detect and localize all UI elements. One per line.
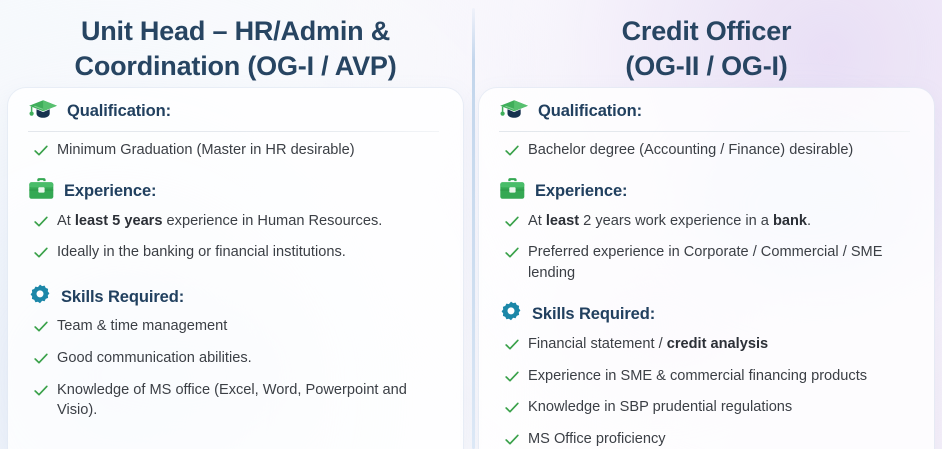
section-qualification: Qualification:Bachelor degree (Accountin… (499, 96, 916, 167)
job-card-2: Qualification:Bachelor degree (Accountin… (479, 88, 934, 449)
section-qualification: Qualification:Minimum Graduation (Master… (28, 96, 445, 167)
check-icon (505, 432, 519, 449)
section-item-list: Team & time managementGood communication… (28, 312, 445, 425)
list-item: At least 2 years work experience in a ba… (499, 207, 916, 239)
gear-icon (499, 300, 523, 329)
list-item: Knowledge of MS office (Excel, Word, Pow… (28, 376, 445, 425)
section-skills: Skills Required:Financial statement / cr… (499, 300, 916, 449)
check-icon (34, 383, 48, 404)
briefcase-icon (499, 177, 526, 207)
check-icon (505, 143, 519, 164)
check-icon (505, 245, 519, 266)
section-item-list: Financial statement / credit analysisExp… (499, 330, 916, 449)
check-icon (505, 337, 519, 358)
list-item-text: Good communication abilities. (57, 348, 445, 369)
section-header-qualification: Qualification: (499, 96, 916, 126)
check-icon (505, 214, 519, 235)
list-item: Bachelor degree (Accounting / Finance) d… (499, 137, 916, 167)
list-item-text: Experience in SME & commercial financing… (528, 366, 916, 387)
section-item-list: Bachelor degree (Accounting / Finance) d… (499, 137, 916, 167)
check-icon (34, 245, 48, 266)
list-item: Financial statement / credit analysis (499, 330, 916, 362)
graduation-cap-icon (499, 96, 529, 127)
list-item-text: Minimum Graduation (Master in HR desirab… (57, 140, 445, 161)
list-item: Preferred experience in Corporate / Comm… (499, 238, 916, 287)
list-item: Team & time management (28, 312, 445, 344)
list-item-text: Financial statement / credit analysis (528, 334, 916, 355)
list-item: Good communication abilities. (28, 344, 445, 376)
section-divider (28, 131, 439, 132)
section-header-qualification: Qualification: (28, 96, 445, 126)
list-item-text: At least 5 years experience in Human Res… (57, 211, 445, 232)
list-item: MS Office proficiency (499, 425, 916, 449)
check-icon (34, 214, 48, 235)
column-divider (472, 8, 475, 449)
briefcase-icon (28, 177, 55, 207)
list-item-text: Ideally in the banking or financial inst… (57, 242, 445, 263)
list-item-text: Knowledge in SBP prudential regulations (528, 397, 916, 418)
section-experience: Experience:At least 5 years experience i… (28, 177, 445, 270)
job-requirements-infographic: Unit Head – HR/Admin &Coordination (OG-I… (0, 0, 942, 449)
check-icon (34, 143, 48, 164)
section-experience: Experience:At least 2 years work experie… (499, 177, 916, 288)
list-item-text: At least 2 years work experience in a ba… (528, 211, 916, 232)
job-columns-container: Unit Head – HR/Admin &Coordination (OG-I… (0, 0, 942, 449)
section-heading-label: Experience: (535, 182, 627, 201)
section-heading-label: Qualification: (67, 102, 171, 121)
section-header-experience: Experience: (499, 177, 916, 207)
section-heading-label: Qualification: (538, 102, 642, 121)
list-item: Experience in SME & commercial financing… (499, 362, 916, 394)
section-skills: Skills Required:Team & time managementGo… (28, 282, 445, 425)
list-item-text: Team & time management (57, 316, 445, 337)
job-title-2: Credit Officer(OG-II / OG-I) (471, 0, 942, 83)
gear-icon (28, 283, 52, 312)
section-header-experience: Experience: (28, 177, 445, 207)
check-icon (505, 369, 519, 390)
job-title-line: Coordination (OG-I / AVP) (0, 49, 471, 84)
section-heading-label: Experience: (64, 182, 156, 201)
check-icon (34, 319, 48, 340)
section-heading-label: Skills Required: (532, 305, 655, 324)
list-item-text: Knowledge of MS office (Excel, Word, Pow… (57, 380, 445, 421)
job-title-line: (OG-II / OG-I) (471, 49, 942, 84)
section-item-list: Minimum Graduation (Master in HR desirab… (28, 137, 445, 167)
section-heading-label: Skills Required: (61, 288, 184, 307)
section-divider (499, 131, 910, 132)
job-title-1: Unit Head – HR/Admin &Coordination (OG-I… (0, 0, 471, 83)
check-icon (34, 351, 48, 372)
list-item-text: MS Office proficiency (528, 429, 916, 449)
job-column-2: Credit Officer(OG-II / OG-I)Qualificatio… (471, 0, 942, 449)
section-header-skills: Skills Required: (28, 282, 445, 312)
job-column-1: Unit Head – HR/Admin &Coordination (OG-I… (0, 0, 471, 449)
check-icon (505, 400, 519, 421)
section-item-list: At least 5 years experience in Human Res… (28, 207, 445, 270)
job-title-line: Unit Head – HR/Admin & (0, 14, 471, 49)
section-item-list: At least 2 years work experience in a ba… (499, 207, 916, 288)
list-item: Knowledge in SBP prudential regulations (499, 393, 916, 425)
list-item-text: Bachelor degree (Accounting / Finance) d… (528, 140, 916, 161)
list-item-text: Preferred experience in Corporate / Comm… (528, 242, 916, 283)
list-item: Ideally in the banking or financial inst… (28, 238, 445, 270)
section-header-skills: Skills Required: (499, 300, 916, 330)
job-card-1: Qualification:Minimum Graduation (Master… (8, 88, 463, 449)
graduation-cap-icon (28, 96, 58, 127)
list-item: Minimum Graduation (Master in HR desirab… (28, 137, 445, 167)
job-title-line: Credit Officer (471, 14, 942, 49)
list-item: At least 5 years experience in Human Res… (28, 207, 445, 239)
